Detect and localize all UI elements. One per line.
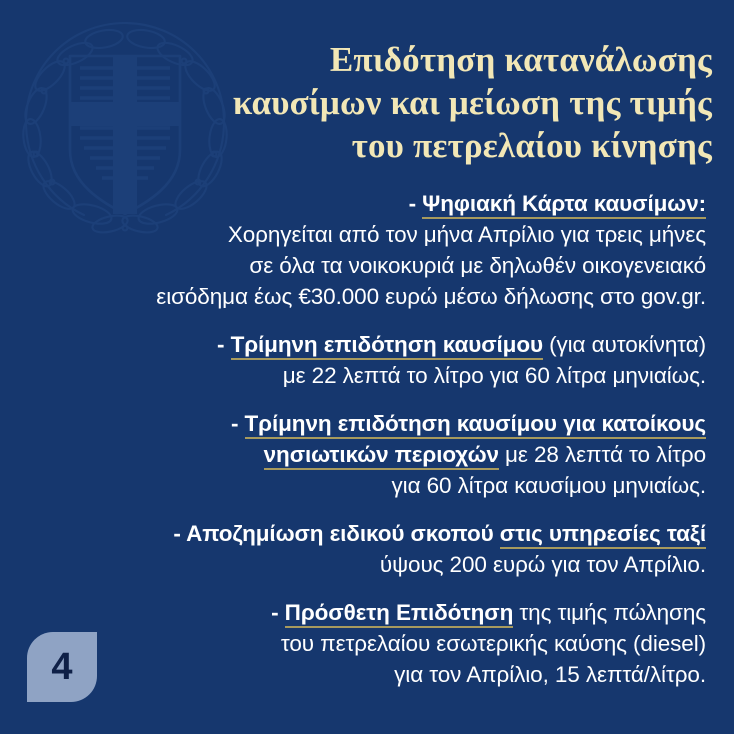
bullet-line: νησιωτικών περιοχών με 28 λεπτά το λίτρο (24, 439, 706, 470)
emphasis-underlined: Τρίμηνη επιδότηση καυσίμου (231, 332, 543, 360)
bullet-block-taxi-compensation: - Αποζημίωση ειδικού σκοπού στις υπηρεσί… (24, 518, 706, 580)
emphasis-bold: - (271, 600, 285, 625)
emphasis-underlined: Πρόσθετη Επιδότηση (285, 600, 514, 628)
emphasis-underlined: Ψηφιακή Κάρτα καυσίμων: (422, 191, 706, 219)
body-text: με 28 λεπτά το λίτρο (499, 442, 706, 467)
bullet-block-fuel-card: - Ψηφιακή Κάρτα καυσίμων:Χορηγείται από … (24, 188, 706, 312)
emphasis-underlined: νησιωτικών περιοχών (264, 442, 499, 470)
bullet-line: ύψους 200 ευρώ για τον Απρίλιο. (24, 549, 706, 580)
body-text: σε όλα τα νοικοκυριά με δηλωθέν οικογενε… (249, 253, 706, 278)
bullet-line: με 22 λεπτά το λίτρο για 60 λίτρα μηνιαί… (24, 360, 706, 391)
page-number-badge: 4 (27, 632, 97, 702)
page-title: Επιδότηση κατανάλωσης καυσίμων και μείωσ… (150, 38, 712, 167)
body-text: εισόδημα έως €30.000 ευρώ μέσω δήλωσης σ… (156, 284, 706, 309)
body-text: της τιμής πώλησης (513, 600, 706, 625)
headline-line: του πετρελαίου κίνησης (150, 124, 712, 167)
emphasis-bold: - (409, 191, 423, 216)
emphasis-underlined: στις υπηρεσίες ταξί (500, 521, 706, 549)
bullet-line: - Πρόσθετη Επιδότηση της τιμής πώλησης (24, 597, 706, 628)
emphasis-bold: - (231, 411, 245, 436)
page-number: 4 (51, 648, 72, 686)
bullet-line: για τον Απρίλιο, 15 λεπτά/λίτρο. (24, 659, 706, 690)
emphasis-bold: - (217, 332, 231, 357)
body-text: Χορηγείται από τον μήνα Απρίλιο για τρει… (228, 222, 706, 247)
bullet-list: - Ψηφιακή Κάρτα καυσίμων:Χορηγείται από … (24, 188, 706, 690)
bullet-line: - Αποζημίωση ειδικού σκοπού στις υπηρεσί… (24, 518, 706, 549)
bullet-line: - Τρίμηνη επιδότηση καυσίμου για κατοίκο… (24, 408, 706, 439)
bullet-line: του πετρελαίου εσωτερικής καύσης (diesel… (24, 628, 706, 659)
bullet-line: για 60 λίτρα καυσίμου μηνιαίως. (24, 470, 706, 501)
body-text: (για αυτοκίνητα) (543, 332, 706, 357)
bullet-line: - Τρίμηνη επιδότηση καυσίμου (για αυτοκί… (24, 329, 706, 360)
bullet-line: εισόδημα έως €30.000 ευρώ μέσω δήλωσης σ… (24, 281, 706, 312)
headline-line: καυσίμων και μείωση της τιμής (150, 81, 712, 124)
bullet-block-quarterly-subsidy-cars: - Τρίμηνη επιδότηση καυσίμου (για αυτοκί… (24, 329, 706, 391)
body-text: του πετρελαίου εσωτερικής καύσης (diesel… (281, 631, 706, 656)
bullet-block-extra-subsidy-diesel: - Πρόσθετη Επιδότηση της τιμής πώλησηςτο… (24, 597, 706, 690)
body-text: για τον Απρίλιο, 15 λεπτά/λίτρο. (394, 662, 706, 687)
emphasis-bold: - Αποζημίωση ειδικού σκοπού (173, 521, 499, 546)
bullet-line: Χορηγείται από τον μήνα Απρίλιο για τρει… (24, 219, 706, 250)
bullet-line: - Ψηφιακή Κάρτα καυσίμων: (24, 188, 706, 219)
headline-line: Επιδότηση κατανάλωσης (150, 38, 712, 81)
emphasis-underlined: Τρίμηνη επιδότηση καυσίμου για κατοίκους (245, 411, 706, 439)
body-text: ύψους 200 ευρώ για τον Απρίλιο. (380, 552, 706, 577)
body-text: για 60 λίτρα καυσίμου μηνιαίως. (392, 473, 706, 498)
body-text: με 22 λεπτά το λίτρο για 60 λίτρα μηνιαί… (283, 363, 706, 388)
bullet-line: σε όλα τα νοικοκυριά με δηλωθέν οικογενε… (24, 250, 706, 281)
slide-poster: Επιδότηση κατανάλωσης καυσίμων και μείωσ… (0, 0, 734, 734)
bullet-block-quarterly-subsidy-islands: - Τρίμηνη επιδότηση καυσίμου για κατοίκο… (24, 408, 706, 501)
